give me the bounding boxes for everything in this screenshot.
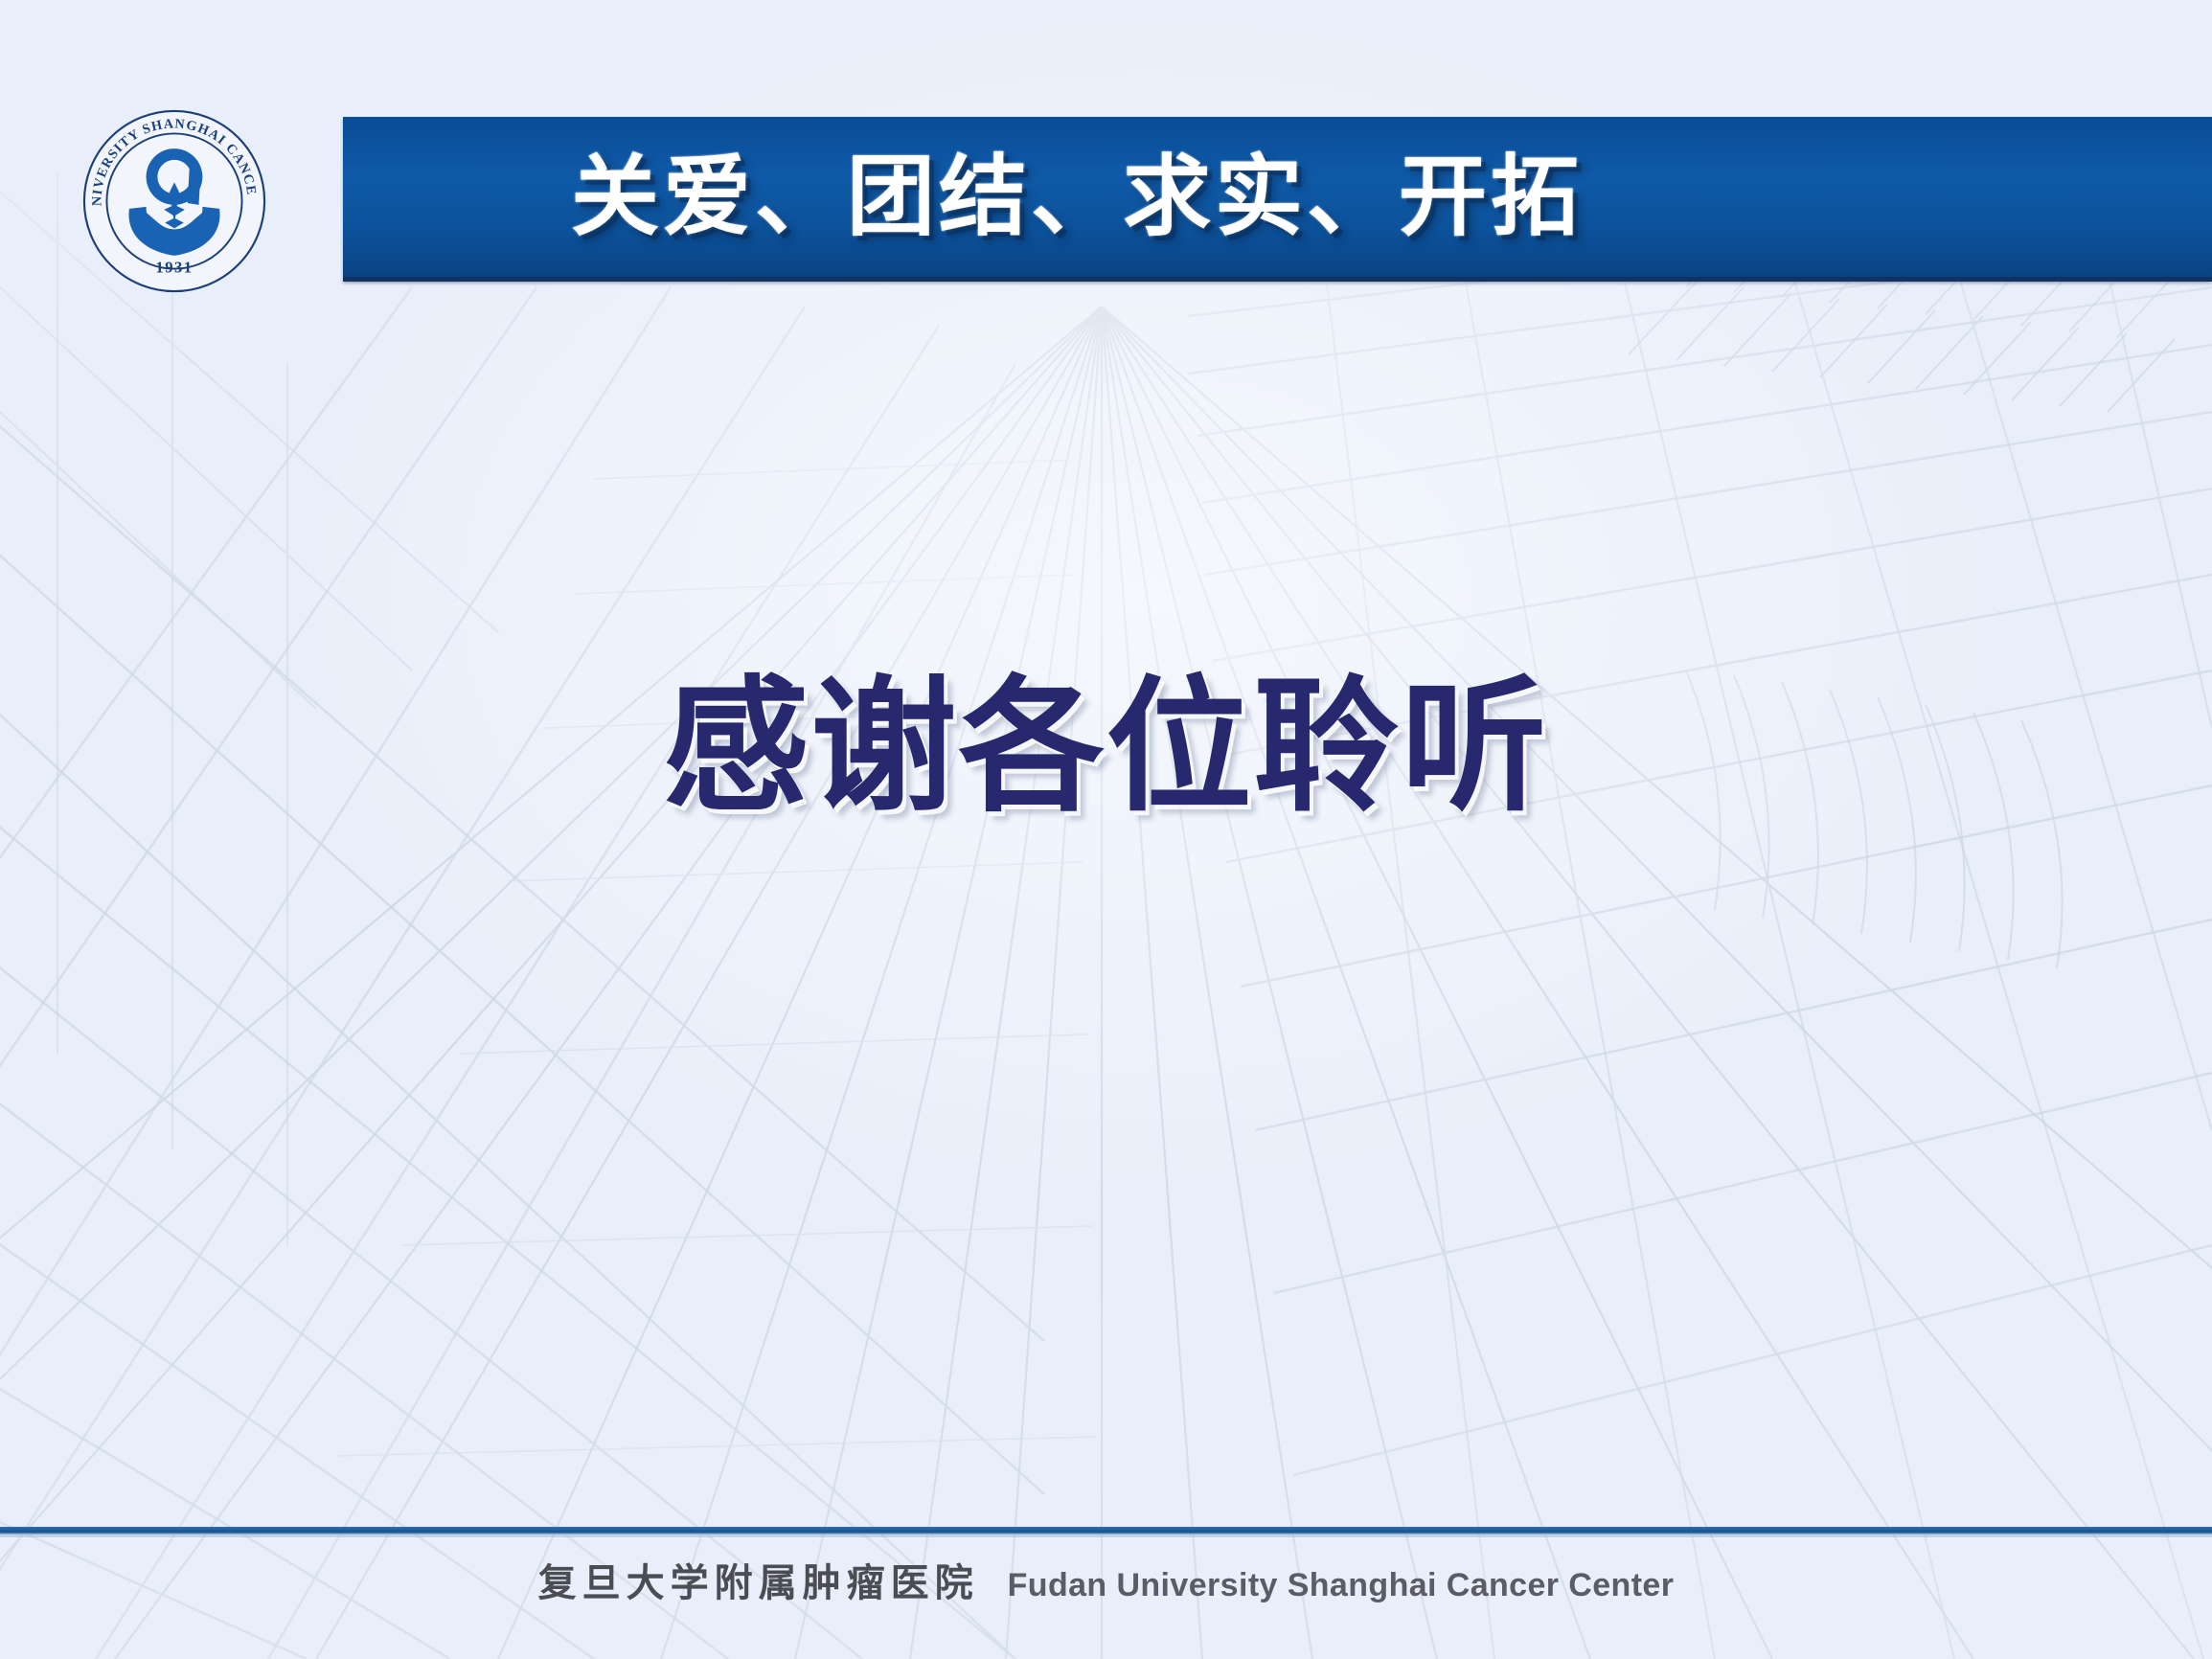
- header-banner: 关爱、团结、求实、开拓: [343, 117, 2212, 282]
- footer-name-en: Fudan University Shanghai Cancer Center: [1008, 1567, 1675, 1604]
- banner-title-text: 关爱、团结、求实、开拓: [571, 153, 1583, 241]
- footer-name-cn: 复旦大学附属肿瘤医院: [538, 1552, 979, 1607]
- institution-logo: FUDAN UNIVERSITY SHANGHAI CANCER CENTER …: [80, 107, 268, 295]
- footer-divider: [0, 1527, 2212, 1534]
- footer: 复旦大学附属肿瘤医院 Fudan University Shanghai Can…: [0, 1552, 2212, 1607]
- logo-year: 1931: [155, 258, 193, 276]
- presentation-slide: FUDAN UNIVERSITY SHANGHAI CANCER CENTER …: [0, 0, 2212, 1659]
- header-banner-inner: 关爱、团结、求实、开拓: [571, 153, 1583, 241]
- footer-divider-shadow: [0, 1534, 2212, 1537]
